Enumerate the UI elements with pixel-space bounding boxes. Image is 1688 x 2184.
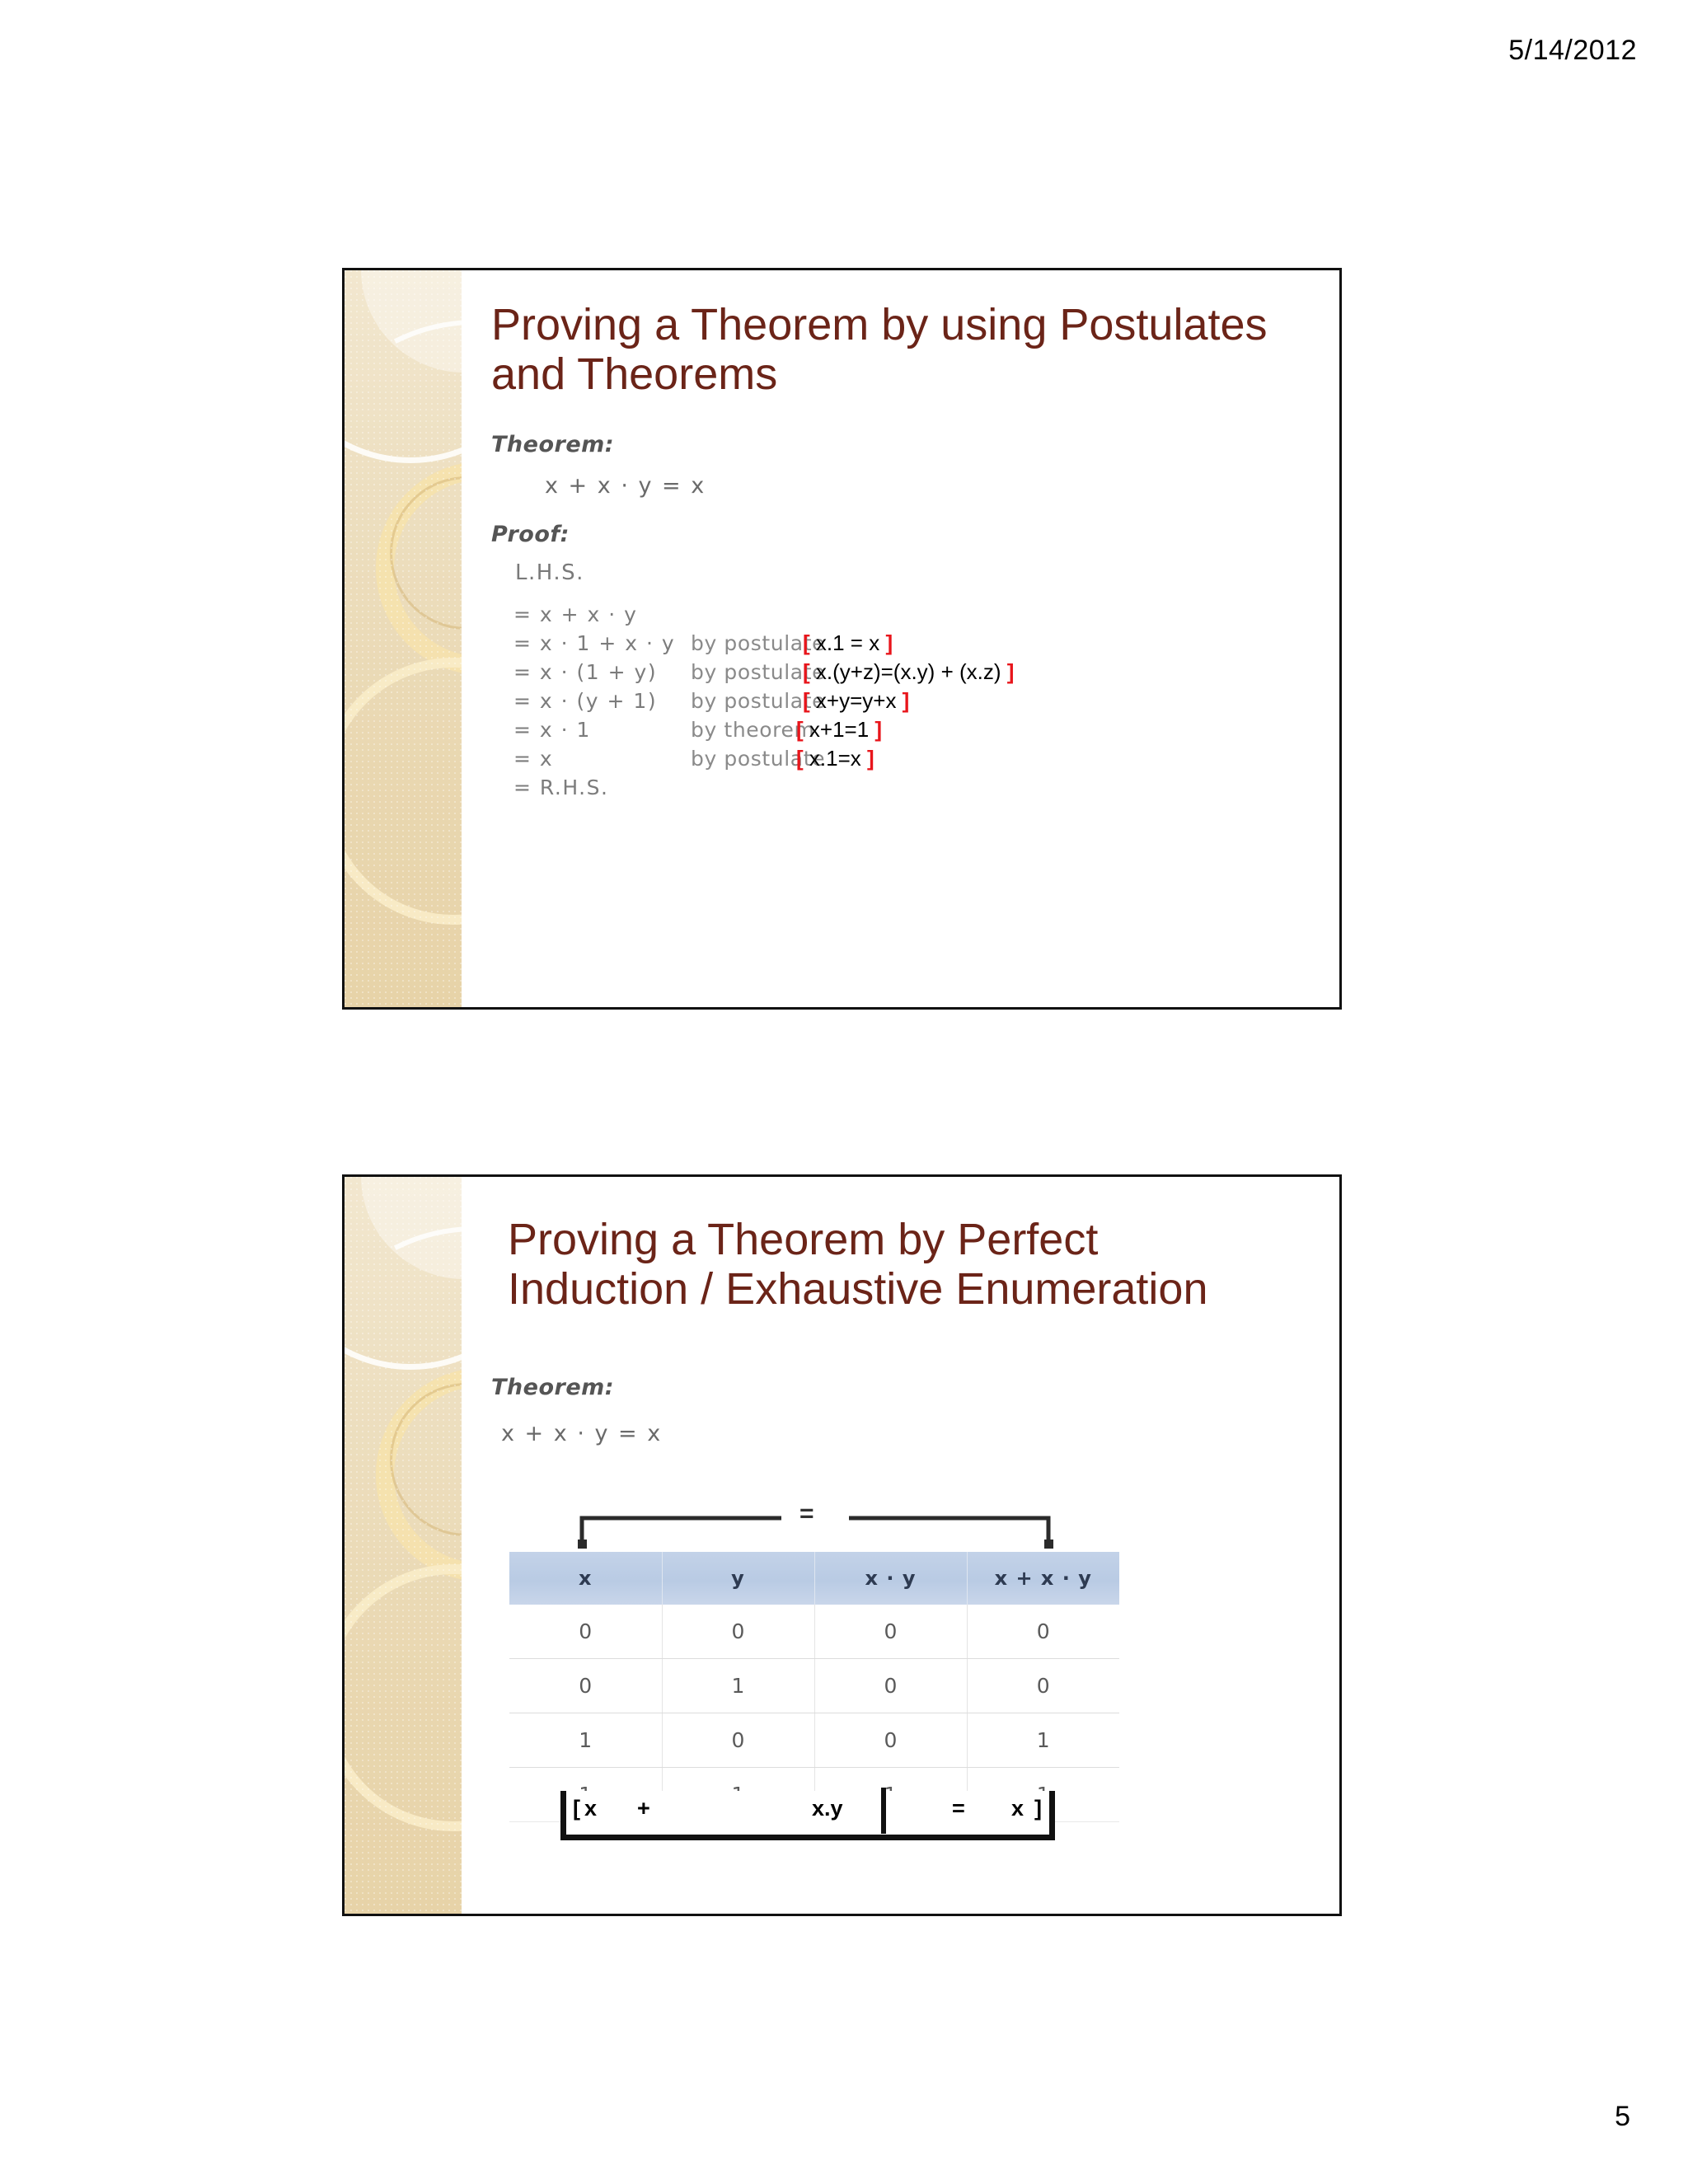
decorative-ring-gold-icon (376, 1368, 462, 1582)
proof-note-row: [ x.1 = x ] (803, 629, 1014, 658)
decorative-arc-icon (345, 1180, 462, 1629)
cell-y: 0 (662, 1713, 814, 1768)
proof-notes: [ x.1 = x ] [ x.(y+z)=(x.y) + (x.z) ] [ … (803, 629, 1014, 773)
equality-bracket-icon (509, 1507, 1119, 1554)
proof-note-row: [ x+y=y+x ] (803, 687, 1014, 715)
proof-note-row: [ x+1=1 ] (796, 715, 1014, 744)
decorative-ring-inner-icon (390, 476, 462, 630)
cell-xy: 0 (814, 1713, 967, 1768)
proof-note-row: [ x.(y+z)=(x.y) + (x.z) ] (803, 658, 1014, 687)
bracket-close: ] (885, 630, 893, 655)
bracket-open: [ (573, 1796, 580, 1821)
cell-x-plus-xy: 0 (967, 1605, 1119, 1659)
column-header-y: y (662, 1552, 814, 1605)
note-text: x+y=y+x (810, 688, 903, 713)
cell-xy: 0 (814, 1605, 967, 1659)
bracket-open: [ (796, 746, 804, 771)
bracket-close: ] (903, 688, 910, 713)
truth-table-wrapper: x y x · y x + x · y 0 0 0 0 0 1 0 0 (509, 1552, 1119, 1822)
decorative-disc-icon (361, 1177, 462, 1279)
note-text: x.1 = x (810, 630, 886, 655)
decorative-ring-icon (345, 1177, 462, 1370)
bracket-close: ] (867, 746, 874, 771)
proof-steps: = x + x · y = x · 1 + x · y = x · (1 + y… (513, 600, 675, 802)
table-row: 0 1 0 0 (509, 1659, 1119, 1713)
page-number: 5 (1615, 2101, 1630, 2133)
cell-x: 0 (509, 1659, 662, 1713)
lhs-label: L.H.S. (515, 560, 584, 585)
decorative-ring-lower-icon (345, 1564, 462, 1831)
decorative-disc-icon (361, 270, 462, 373)
truth-table: x y x · y x + x · y 0 0 0 0 0 1 0 0 (509, 1552, 1119, 1822)
column-header-x-plus-xy: x + x · y (967, 1552, 1119, 1605)
term-xy: x.y (812, 1796, 843, 1821)
identity-annotation-bar: [ x + x.y = x ] (560, 1791, 1055, 1840)
cell-y: 0 (662, 1605, 814, 1659)
page-date: 5/14/2012 (1508, 35, 1637, 67)
bracket-open: [ (796, 717, 804, 742)
cell-x-plus-xy: 1 (967, 1713, 1119, 1768)
slide-1-title: Proving a Theorem by using Postulates an… (491, 300, 1324, 400)
theorem-label: Theorem: (491, 1375, 614, 1400)
cell-y: 1 (662, 1659, 814, 1713)
decorative-ring-inner-icon (390, 1383, 462, 1536)
note-text: x+1=1 (804, 717, 875, 742)
bracket-open: [ (803, 630, 810, 655)
table-row: 0 0 0 0 (509, 1605, 1119, 1659)
table-row: 1 0 0 1 (509, 1713, 1119, 1768)
term-x: x (584, 1796, 597, 1821)
result-x: x (1011, 1796, 1024, 1821)
cell-xy: 0 (814, 1659, 967, 1713)
plus-operator: + (637, 1796, 650, 1821)
equals-operator: = (952, 1796, 965, 1821)
theorem-statement: x + x · y = x (501, 1421, 662, 1446)
cell-x: 0 (509, 1605, 662, 1659)
truth-table-header-row: x y x · y x + x · y (509, 1552, 1119, 1605)
decorative-ring-lower-icon (345, 658, 462, 925)
slide-2-title: Proving a Theorem by Perfect Induction /… (508, 1215, 1340, 1315)
column-header-x: x (509, 1552, 662, 1605)
proof-note-row: [ x.1=x ] (796, 744, 1014, 773)
column-header-xy: x · y (814, 1552, 967, 1605)
decorative-band (345, 270, 462, 1007)
theorem-statement: x + x · y = x (545, 473, 706, 499)
equality-sign: = (799, 1500, 814, 1528)
bracket-open: [ (803, 688, 810, 713)
proof-label: Proof: (491, 522, 570, 547)
bracket-close: ] (1034, 1796, 1042, 1821)
theorem-label: Theorem: (491, 432, 614, 457)
decorative-arc-icon (345, 274, 462, 722)
slide-2[interactable]: Proving a Theorem by Perfect Induction /… (342, 1174, 1342, 1916)
bracket-close: ] (874, 717, 882, 742)
cell-x: 1 (509, 1713, 662, 1768)
note-text: x.1=x (804, 746, 867, 771)
note-text: x.(y+z)=(x.y) + (x.z) (810, 659, 1007, 684)
annotation-divider (881, 1788, 886, 1834)
bracket-close: ] (1007, 659, 1015, 684)
decorative-ring-icon (345, 270, 462, 463)
bracket-open: [ (803, 659, 810, 684)
decorative-ring-gold-icon (376, 462, 462, 675)
slide-1[interactable]: Proving a Theorem by using Postulates an… (342, 268, 1342, 1010)
equality-bracket: = (509, 1507, 1119, 1554)
cell-x-plus-xy: 0 (967, 1659, 1119, 1713)
decorative-band (345, 1177, 462, 1914)
